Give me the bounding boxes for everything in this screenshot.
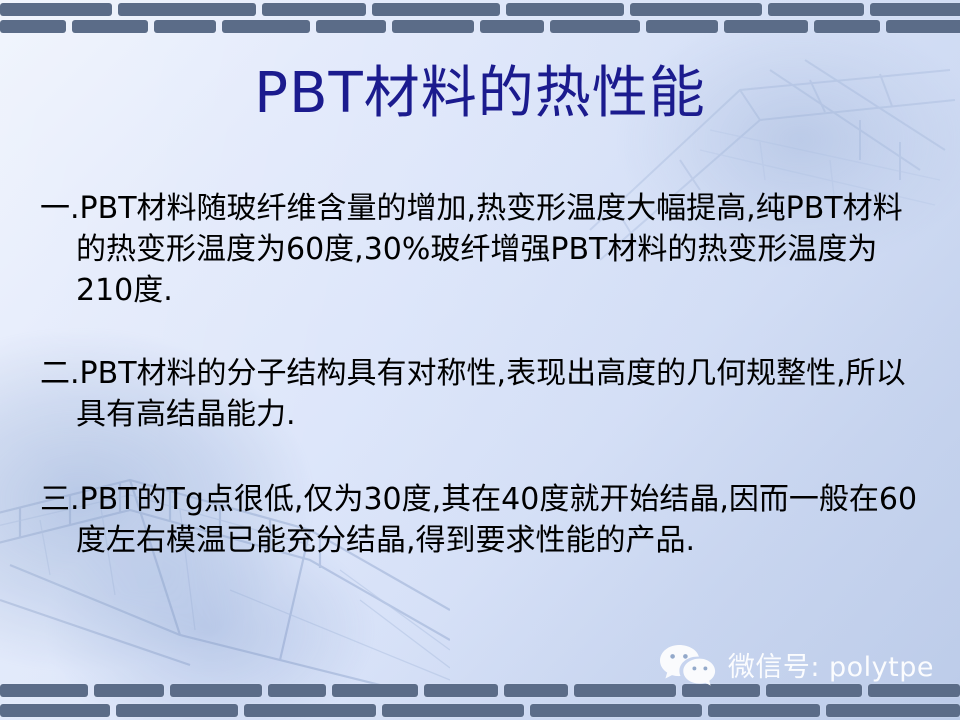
wechat-id-label: 微信号: polytpe xyxy=(728,645,934,684)
presentation-slide: PBT材料的热性能 一.PBT材料随玻纤维含量的增加,热变形温度大幅提高,纯PB… xyxy=(0,0,960,720)
wechat-watermark: 微信号: polytpe xyxy=(658,642,934,686)
page-title: PBT材料的热性能 xyxy=(0,62,960,127)
paragraph-marker-3: 三. xyxy=(40,482,80,517)
paragraph-marker-1: 一. xyxy=(40,191,80,226)
paragraph-text-1: PBT材料随玻纤维含量的增加,热变形温度大幅提高,纯PBT材料的热变形温度为60… xyxy=(76,191,903,308)
body-paragraph-3: 三.PBT的Tg点很低,仅为30度,其在40度就开始结晶,因而一般在60度左右模… xyxy=(40,479,920,561)
brick-row-lower xyxy=(0,18,960,36)
wechat-icon xyxy=(658,642,718,686)
paragraph-text-2: PBT材料的分子结构具有对称性,表现出高度的几何规整性,所以具有高结晶能力. xyxy=(76,356,906,432)
brick-border-top xyxy=(0,0,960,42)
brick-row-upper xyxy=(0,0,960,18)
brick-row-bottom-lower xyxy=(0,702,960,720)
body-paragraph-2: 二.PBT材料的分子结构具有对称性,表现出高度的几何规整性,所以具有高结晶能力. xyxy=(40,353,920,435)
paragraph-marker-2: 二. xyxy=(40,356,80,391)
slide-body: 一.PBT材料随玻纤维含量的增加,热变形温度大幅提高,纯PBT材料的热变形温度为… xyxy=(40,188,920,561)
body-paragraph-1: 一.PBT材料随玻纤维含量的增加,热变形温度大幅提高,纯PBT材料的热变形温度为… xyxy=(40,188,920,311)
paragraph-text-3: PBT的Tg点很低,仅为30度,其在40度就开始结晶,因而一般在60度左右模温已… xyxy=(76,482,917,558)
